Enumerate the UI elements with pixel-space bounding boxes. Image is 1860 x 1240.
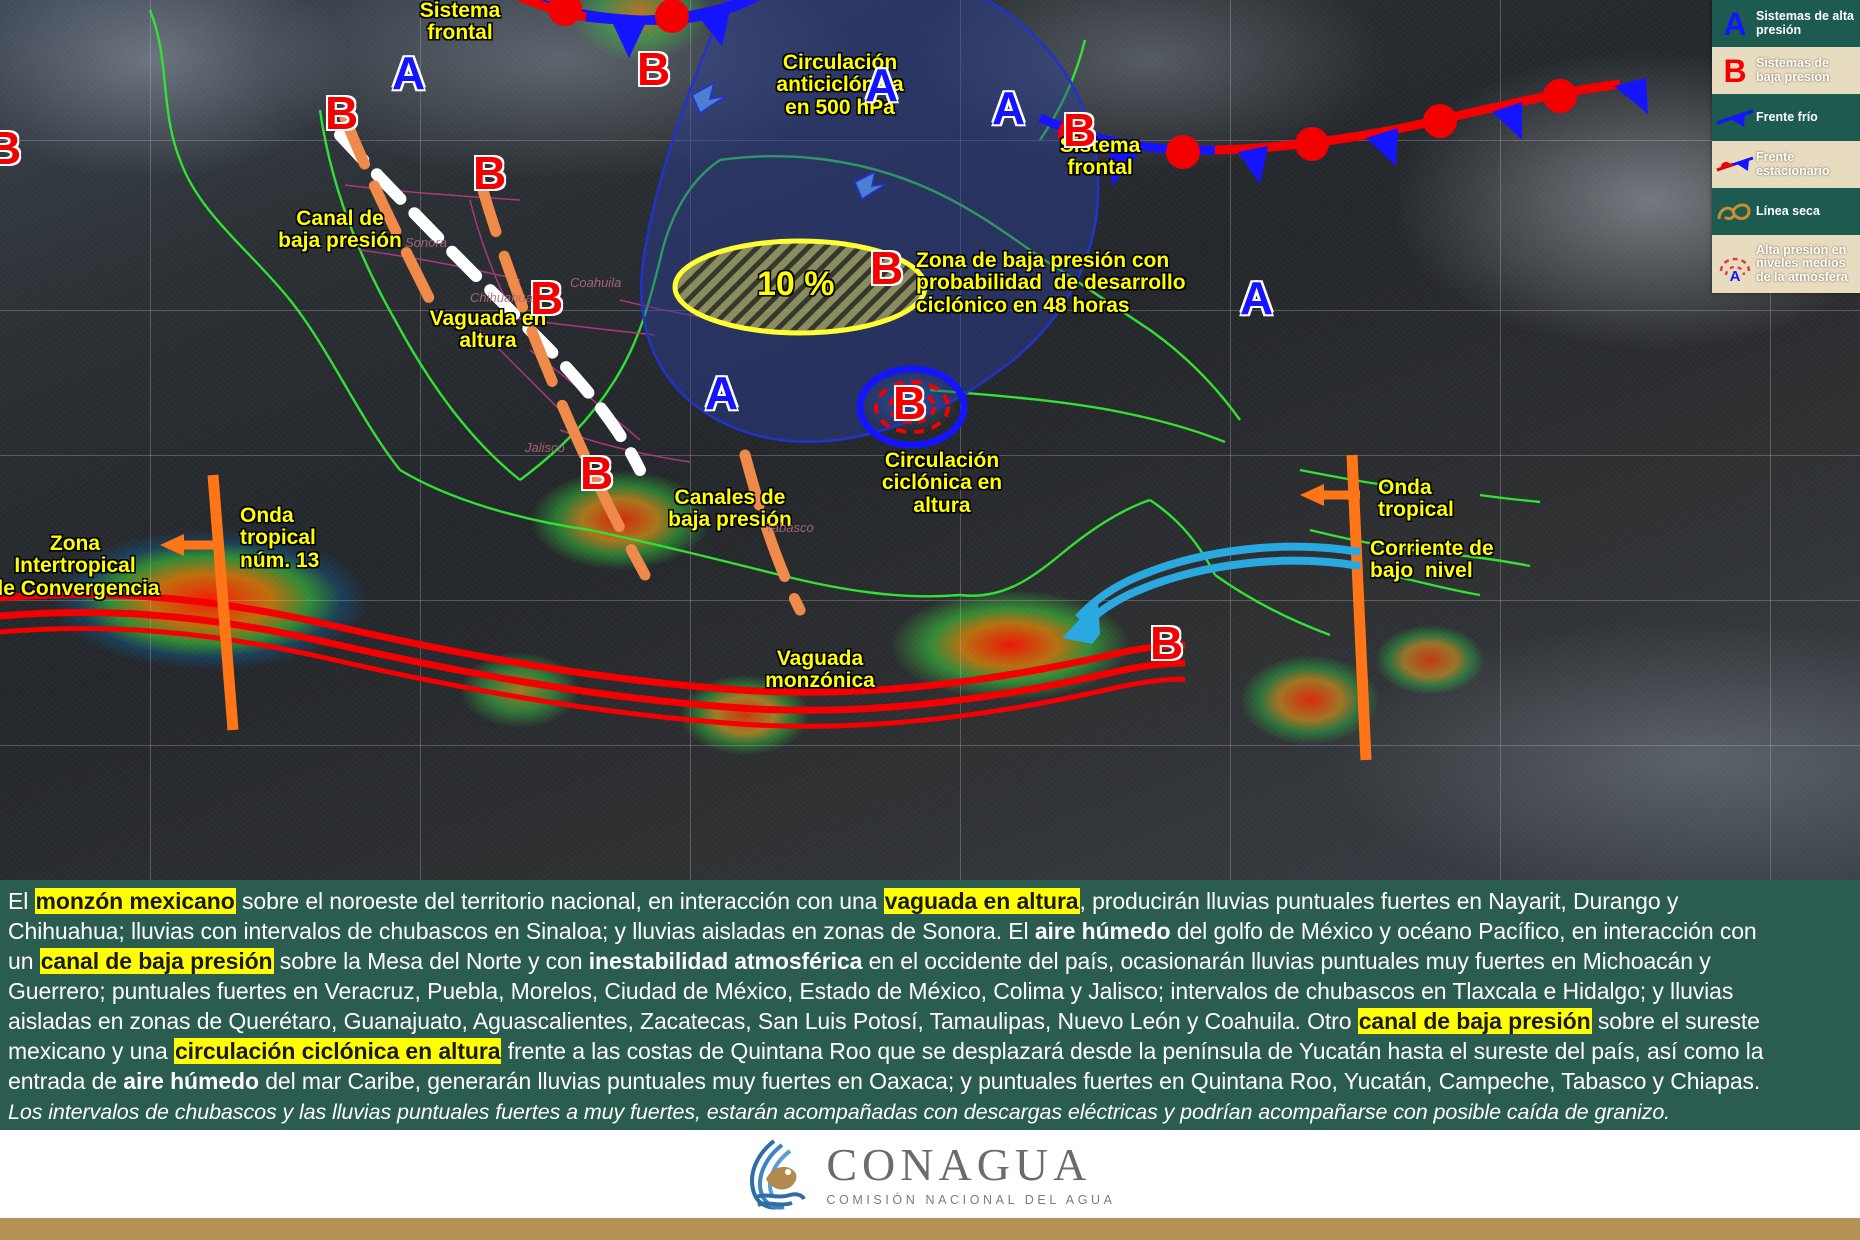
forecast-text-segment: El xyxy=(8,888,35,914)
stationary-front-icon xyxy=(1714,152,1756,178)
cold-front-icon xyxy=(1714,105,1756,131)
high-pressure-symbol: A xyxy=(1240,275,1273,321)
label-circulacion-anticiclonica: Circulación anticiclónica en 500 hPa xyxy=(740,52,940,119)
legend-item-dry-line: Línea seca xyxy=(1712,188,1860,235)
satellite-weather-map: Sistema frontal Circulación anticiclónic… xyxy=(0,0,1860,880)
state-name-label: Tabasco xyxy=(765,520,814,535)
forecast-text-segment: Guerrero; puntuales fuertes en Veracruz,… xyxy=(8,978,1733,1004)
forecast-text-segment: sobre el sureste xyxy=(1592,1008,1760,1034)
high-pressure-symbol: A xyxy=(392,50,425,96)
legend-label: Frente frío xyxy=(1756,111,1818,125)
forecast-text-segment: , producirán lluvias puntuales fuertes e… xyxy=(1080,888,1679,914)
itcz-monsoon-trough xyxy=(0,594,1185,726)
forecast-line: El monzón mexicano sobre el noroeste del… xyxy=(8,886,1852,916)
forecast-text-segment: vaguada en altura xyxy=(884,888,1080,914)
forecast-text-segment: entrada de xyxy=(8,1068,123,1094)
tropical-wave-east xyxy=(1300,455,1366,760)
low-pressure-symbol: B xyxy=(1150,620,1183,666)
forecast-line: Chihuahua; lluvias con intervalos de chu… xyxy=(8,916,1852,946)
forecast-line: Los intervalos de chubascos y las lluvia… xyxy=(8,1096,1852,1127)
logo-sub-text: COMISIÓN NACIONAL DEL AGUA xyxy=(826,1193,1115,1207)
forecast-text-segment: mexicano y una xyxy=(8,1038,174,1064)
high-pressure-symbol: A xyxy=(992,85,1025,131)
label-circulacion-ciclonica-altura: Circulación ciclónica en altura xyxy=(852,450,1032,517)
label-zona-baja-presion-ciclonico: Zona de baja presión con probabilidad de… xyxy=(916,250,1216,317)
high-pressure-symbol: A xyxy=(865,62,898,108)
label-sistema-frontal-norte: Sistema frontal xyxy=(390,0,530,45)
legend-label: Línea seca xyxy=(1756,205,1820,219)
low-pressure-symbol: B xyxy=(580,450,613,496)
forecast-text-segment: canal de baja presión xyxy=(1358,1008,1592,1034)
footer-logo-bar: CONAGUA COMISIÓN NACIONAL DEL AGUA xyxy=(0,1130,1860,1218)
low-pressure-symbol: B xyxy=(530,275,563,321)
legend-label: Alta presión en niveles medios de la atm… xyxy=(1756,244,1856,285)
forecast-text-segment: Los intervalos de chubascos y las lluvia… xyxy=(8,1100,1670,1124)
label-onda-tropical-este: Onda tropical xyxy=(1378,477,1528,522)
low-pressure-symbol: B xyxy=(0,125,21,171)
legend-label: Frente estacionario xyxy=(1756,151,1856,178)
forecast-text-segment: circulación ciclónica en altura xyxy=(174,1038,501,1064)
legend-item-stationary-front: Frente estacionario xyxy=(1712,141,1860,188)
high-pressure-symbol: A xyxy=(705,370,738,416)
label-onda-tropical-13: Onda tropical núm. 13 xyxy=(240,505,390,572)
forecast-paragraph: El monzón mexicano sobre el noroeste del… xyxy=(0,880,1860,1129)
forecast-text-segment: aire húmedo xyxy=(123,1068,259,1094)
state-name-label: Chihuahua xyxy=(470,290,533,305)
forecast-text-segment: en el occidente del país, ocasionarán ll… xyxy=(862,948,1710,974)
map-legend: A Sistemas de alta presión B Sistemas de… xyxy=(1712,0,1860,293)
forecast-text-segment: sobre la Mesa del Norte y con xyxy=(274,948,589,974)
forecast-line: Guerrero; puntuales fuertes en Veracruz,… xyxy=(8,976,1852,1006)
forecast-line: un canal de baja presión sobre la Mesa d… xyxy=(8,946,1852,976)
mid-level-high-icon: A xyxy=(1714,245,1756,283)
footer-gold-bar xyxy=(0,1218,1860,1240)
forecast-text-segment: frente a las costas de Quintana Roo que … xyxy=(501,1038,1763,1064)
state-name-label: Jalisco xyxy=(525,440,565,455)
legend-item-cold-front: Frente frío xyxy=(1712,94,1860,141)
letter-a-icon: A xyxy=(1714,8,1756,40)
weather-forecast-page: Sistema frontal Circulación anticiclónic… xyxy=(0,0,1860,1240)
forecast-text-segment: Chihuahua; lluvias con intervalos de chu… xyxy=(8,918,1035,944)
low-pressure-symbol: B xyxy=(870,245,903,291)
forecast-text-segment: del mar Caribe, generarán lluvias puntua… xyxy=(259,1068,1760,1094)
logo-main-text: CONAGUA xyxy=(826,1142,1115,1188)
forecast-text-segment: un xyxy=(8,948,40,974)
legend-label: Sistemas de alta presión xyxy=(1756,10,1856,37)
conagua-wordmark: CONAGUA COMISIÓN NACIONAL DEL AGUA xyxy=(826,1142,1115,1207)
legend-item-mid-level-high: A Alta presión en niveles medios de la a… xyxy=(1712,235,1860,293)
conagua-logo: CONAGUA COMISIÓN NACIONAL DEL AGUA xyxy=(744,1137,1115,1211)
forecast-text-segment: del golfo de México y océano Pacífico, e… xyxy=(1170,918,1756,944)
label-sistema-frontal-este: Sistema frontal xyxy=(1020,135,1180,180)
low-pressure-symbol: B xyxy=(893,380,926,426)
state-name-label: Sonora xyxy=(405,235,447,250)
forecast-line: aisladas en zonas de Querétaro, Guanajua… xyxy=(8,1006,1852,1036)
legend-item-low-pressure: B Sistemas de baja presión xyxy=(1712,47,1860,94)
state-name-label: Coahuila xyxy=(570,275,621,290)
label-probabilidad-porcentaje: 10 % xyxy=(757,266,835,302)
low-pressure-symbol: B xyxy=(637,46,670,92)
low-pressure-symbol: B xyxy=(1063,107,1096,153)
letter-b-icon: B xyxy=(1714,55,1756,87)
map-overlay-vectors xyxy=(0,0,1860,880)
legend-item-high-pressure: A Sistemas de alta presión xyxy=(1712,0,1860,47)
dry-line-icon xyxy=(1714,199,1756,225)
forecast-line: mexicano y una circulación ciclónica en … xyxy=(8,1036,1852,1066)
forecast-text-segment: monzón mexicano xyxy=(35,888,236,914)
conagua-emblem-icon xyxy=(744,1137,812,1211)
forecast-line: entrada de aire húmedo del mar Caribe, g… xyxy=(8,1066,1852,1096)
legend-label: Sistemas de baja presión xyxy=(1756,57,1856,84)
forecast-text-segment: canal de baja presión xyxy=(40,948,274,974)
forecast-text-segment: aire húmedo xyxy=(1035,918,1171,944)
label-vaguada-monzonica: Vaguada monzónica xyxy=(730,648,910,693)
forecast-text-segment: inestabilidad atmosférica xyxy=(589,948,863,974)
low-pressure-symbol: B xyxy=(325,90,358,136)
label-corriente-bajo-nivel: Corriente de bajo nivel xyxy=(1370,538,1560,583)
forecast-text-segment: sobre el noroeste del territorio naciona… xyxy=(236,888,884,914)
forecast-text-pane: El monzón mexicano sobre el noroeste del… xyxy=(0,880,1860,1130)
label-zona-intertropical-convergencia: Zona Intertropical de Convergencia xyxy=(0,533,175,600)
low-pressure-symbol: B xyxy=(473,150,506,196)
forecast-text-segment: aisladas en zonas de Querétaro, Guanajua… xyxy=(8,1008,1358,1034)
svg-text:A: A xyxy=(1730,268,1741,283)
